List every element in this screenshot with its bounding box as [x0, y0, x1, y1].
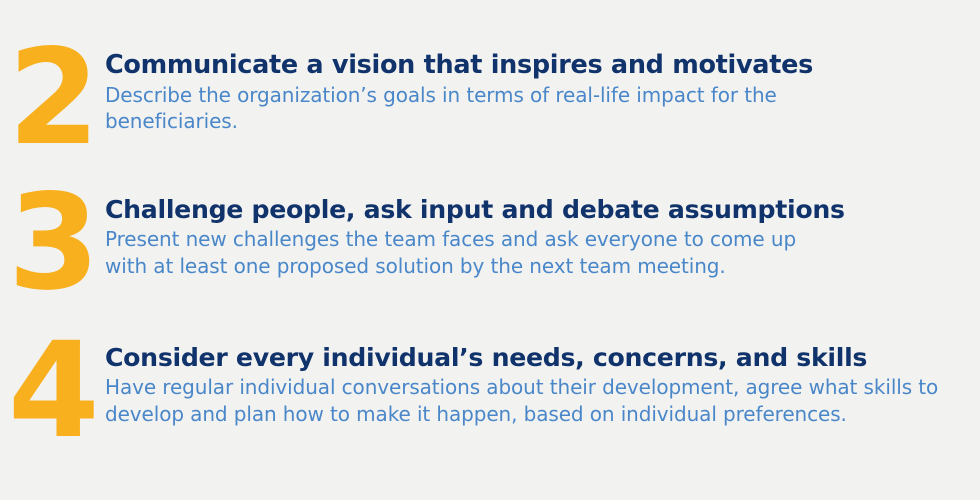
item-description-2: Describe the organization’s goals in ter… [105, 82, 865, 135]
item-number-3: 3 [0, 192, 105, 295]
item-headline-2: Communicate a vision that inspires and m… [105, 51, 972, 80]
item-number-4: 4 [0, 340, 105, 443]
item-text-block-4: Consider every individual’s needs, conce… [105, 340, 980, 427]
list-item: 2 Communicate a vision that inspires and… [0, 47, 980, 150]
item-text-block-3: Challenge people, ask input and debate a… [105, 192, 980, 279]
list-item: 4 Consider every individual’s needs, con… [0, 340, 980, 443]
item-headline-4: Consider every individual’s needs, conce… [105, 344, 972, 372]
item-text-block-2: Communicate a vision that inspires and m… [105, 47, 980, 135]
list-item: 3 Challenge people, ask input and debate… [0, 192, 980, 295]
item-description-3: Present new challenges the team faces an… [105, 226, 835, 279]
item-number-2: 2 [0, 47, 105, 150]
item-description-4: Have regular individual conversations ab… [105, 374, 955, 427]
item-headline-3: Challenge people, ask input and debate a… [105, 196, 972, 224]
infographic-canvas: 1 2 Communicate a vision that inspires a… [0, 0, 980, 500]
